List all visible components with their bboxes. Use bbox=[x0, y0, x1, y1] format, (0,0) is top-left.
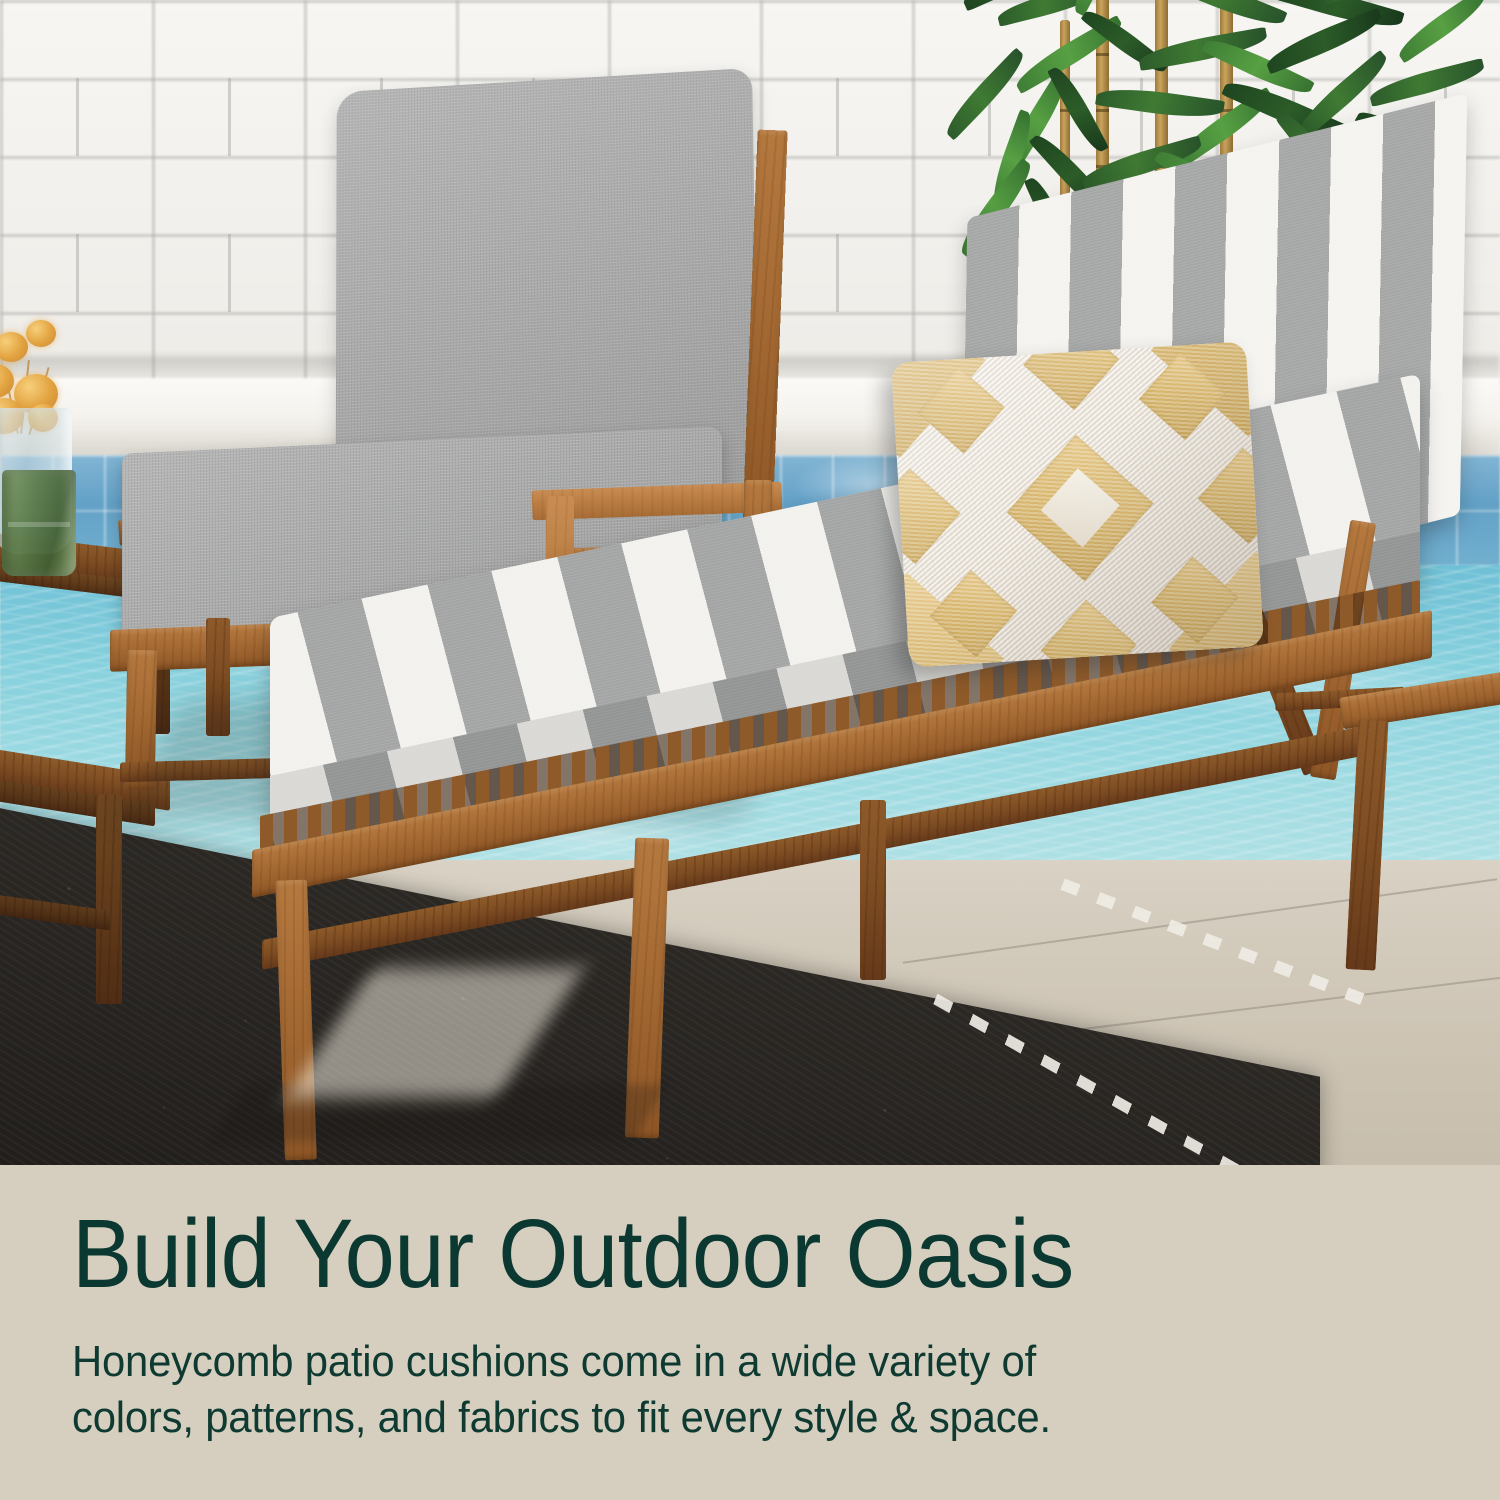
promo-subcopy: Honeycomb patio cushions come in a wide … bbox=[72, 1334, 1345, 1447]
pillow-shading bbox=[891, 341, 1264, 667]
throw-pillow bbox=[891, 341, 1264, 667]
subcopy-line-1: Honeycomb patio cushions come in a wide … bbox=[72, 1334, 1345, 1390]
page-title: Build Your Outdoor Oasis bbox=[72, 1205, 1337, 1302]
green-glass-tumbler bbox=[2, 470, 76, 576]
subcopy-line-2: colors, patterns, and fabrics to fit eve… bbox=[72, 1390, 1345, 1446]
promo-banner: Build Your Outdoor Oasis Honeycomb patio… bbox=[0, 0, 1500, 1500]
hero-photo bbox=[0, 0, 1500, 1165]
chaise-leg bbox=[860, 800, 886, 980]
